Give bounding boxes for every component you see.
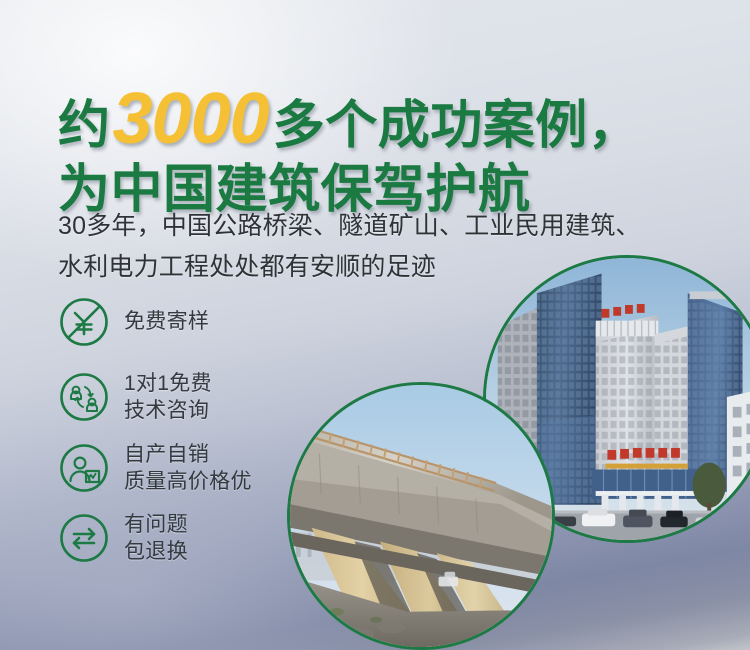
feature-label-quality: 自产自销 质量高价格优 bbox=[124, 441, 252, 496]
crossed-yuan-icon bbox=[58, 296, 110, 348]
feature-label-line-1: 免费寄样 bbox=[124, 310, 209, 333]
feature-label-line-1: 自产自销 bbox=[124, 443, 209, 466]
feature-label-returns: 有问题 包退换 bbox=[124, 511, 188, 566]
two-way-arrows-icon bbox=[58, 512, 110, 564]
headline: 约3000多个成功案例， 为中国建筑保驾护航 bbox=[58, 82, 718, 217]
feature-item-free-sample: 免费寄样 bbox=[58, 296, 348, 348]
headline-line-1: 约3000多个成功案例， bbox=[58, 82, 718, 157]
subtitle-line-1: 30多年，中国公路桥梁、隧道矿山、工业民用建筑、 bbox=[58, 206, 738, 247]
headline-number: 3000 bbox=[111, 79, 273, 159]
feature-label-line-2: 包退换 bbox=[124, 538, 188, 565]
headline-prefix: 约 bbox=[58, 97, 111, 155]
feature-label-line-1: 有问题 bbox=[124, 513, 188, 536]
feature-label-line-2: 技术咨询 bbox=[124, 397, 212, 424]
promo-banner: 约3000多个成功案例， 为中国建筑保驾护航 30多年，中国公路桥梁、隧道矿山、… bbox=[0, 0, 750, 650]
feature-label-consulting: 1对1免费 技术咨询 bbox=[124, 370, 212, 425]
feature-item-consulting: 1对1免费 技术咨询 bbox=[58, 370, 348, 425]
bridge-photo bbox=[287, 382, 555, 650]
feature-label-line-1: 1对1免费 bbox=[124, 372, 212, 395]
headline-suffix: 多个成功案例， bbox=[273, 97, 641, 155]
person-chart-icon bbox=[58, 442, 110, 494]
feature-label-line-2: 质量高价格优 bbox=[124, 468, 252, 495]
feature-label-free-sample: 免费寄样 bbox=[124, 308, 209, 335]
two-people-exchange-icon bbox=[58, 371, 110, 423]
